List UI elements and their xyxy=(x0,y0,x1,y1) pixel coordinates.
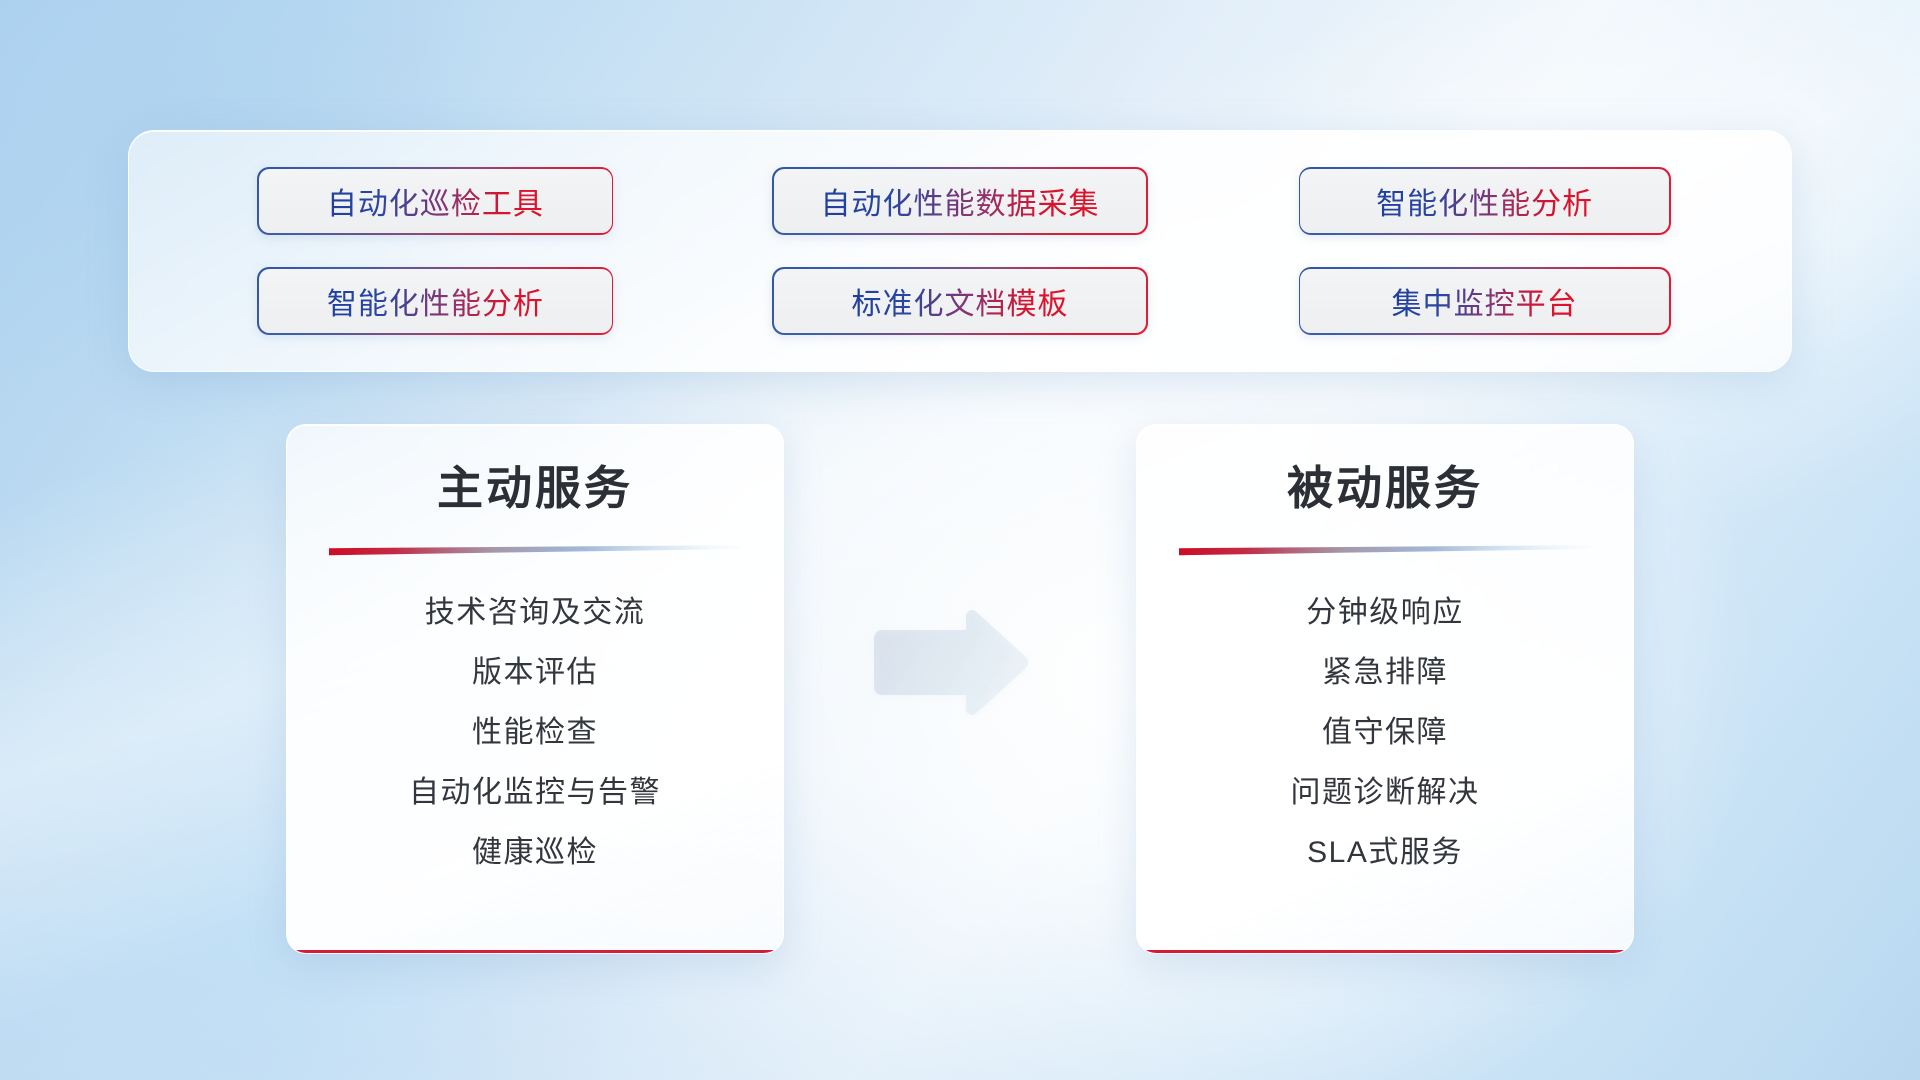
capability-chip-inner: 智能化性能分析 xyxy=(1300,169,1668,233)
capability-chip-label: 集中监控平台 xyxy=(1392,279,1578,323)
service-list-item: 分钟级响应 xyxy=(1177,583,1593,643)
service-list-item: 性能检查 xyxy=(327,703,743,763)
passive-service-list: 分钟级响应 紧急排障 值守保障 问题诊断解决 SLA式服务 xyxy=(1177,583,1593,883)
capability-chip-inner: 自动化性能数据采集 xyxy=(774,169,1146,233)
service-list-item: 健康巡检 xyxy=(327,823,743,883)
capability-chip-label: 自动化性能数据采集 xyxy=(820,179,1099,223)
capability-chips-panel: 自动化巡检工具 自动化性能数据采集 智能化性能分析 智能化性能分析 标准化文档模… xyxy=(128,130,1792,372)
active-service-title: 主动服务 xyxy=(327,463,743,514)
service-list-item: SLA式服务 xyxy=(1177,823,1593,883)
active-service-list: 技术咨询及交流 版本评估 性能检查 自动化监控与告警 健康巡检 xyxy=(327,583,743,883)
capability-chip-label: 标准化文档模板 xyxy=(851,279,1068,323)
capability-chip[interactable]: 标准化文档模板 xyxy=(772,267,1148,335)
active-service-card: 主动服务 技术咨询及交流 版本评估 性能检查 自动化监控与告警 健康巡检 xyxy=(286,424,784,954)
capability-chip-inner: 自动化巡检工具 xyxy=(259,169,611,233)
capability-chip[interactable]: 自动化巡检工具 xyxy=(257,167,613,235)
capability-chip-inner: 标准化文档模板 xyxy=(774,269,1146,333)
capability-chip-inner: 集中监控平台 xyxy=(1300,269,1668,333)
service-list-item: 问题诊断解决 xyxy=(1177,763,1593,823)
service-list-item: 紧急排障 xyxy=(1177,643,1593,703)
capability-chip[interactable]: 集中监控平台 xyxy=(1299,267,1671,335)
capability-chip-label: 智能化性能分析 xyxy=(327,279,544,323)
capability-chip-label: 自动化巡检工具 xyxy=(327,179,544,223)
capability-chip[interactable]: 智能化性能分析 xyxy=(1299,167,1671,235)
capability-chip[interactable]: 智能化性能分析 xyxy=(257,267,613,335)
passive-service-title: 被动服务 xyxy=(1177,463,1593,514)
service-list-item: 自动化监控与告警 xyxy=(327,763,743,823)
capability-chip-inner: 智能化性能分析 xyxy=(259,269,611,333)
card-divider xyxy=(329,545,741,557)
capability-chip[interactable]: 自动化性能数据采集 xyxy=(772,167,1148,235)
service-list-item: 值守保障 xyxy=(1177,703,1593,763)
passive-service-card: 被动服务 分钟级响应 紧急排障 值守保障 问题诊断解决 SLA式服务 xyxy=(1136,424,1634,954)
right-arrow-icon xyxy=(870,610,1030,715)
service-list-item: 版本评估 xyxy=(327,643,743,703)
capability-chip-label: 智能化性能分析 xyxy=(1376,179,1593,223)
service-list-item: 技术咨询及交流 xyxy=(327,583,743,643)
card-divider xyxy=(1179,545,1591,557)
